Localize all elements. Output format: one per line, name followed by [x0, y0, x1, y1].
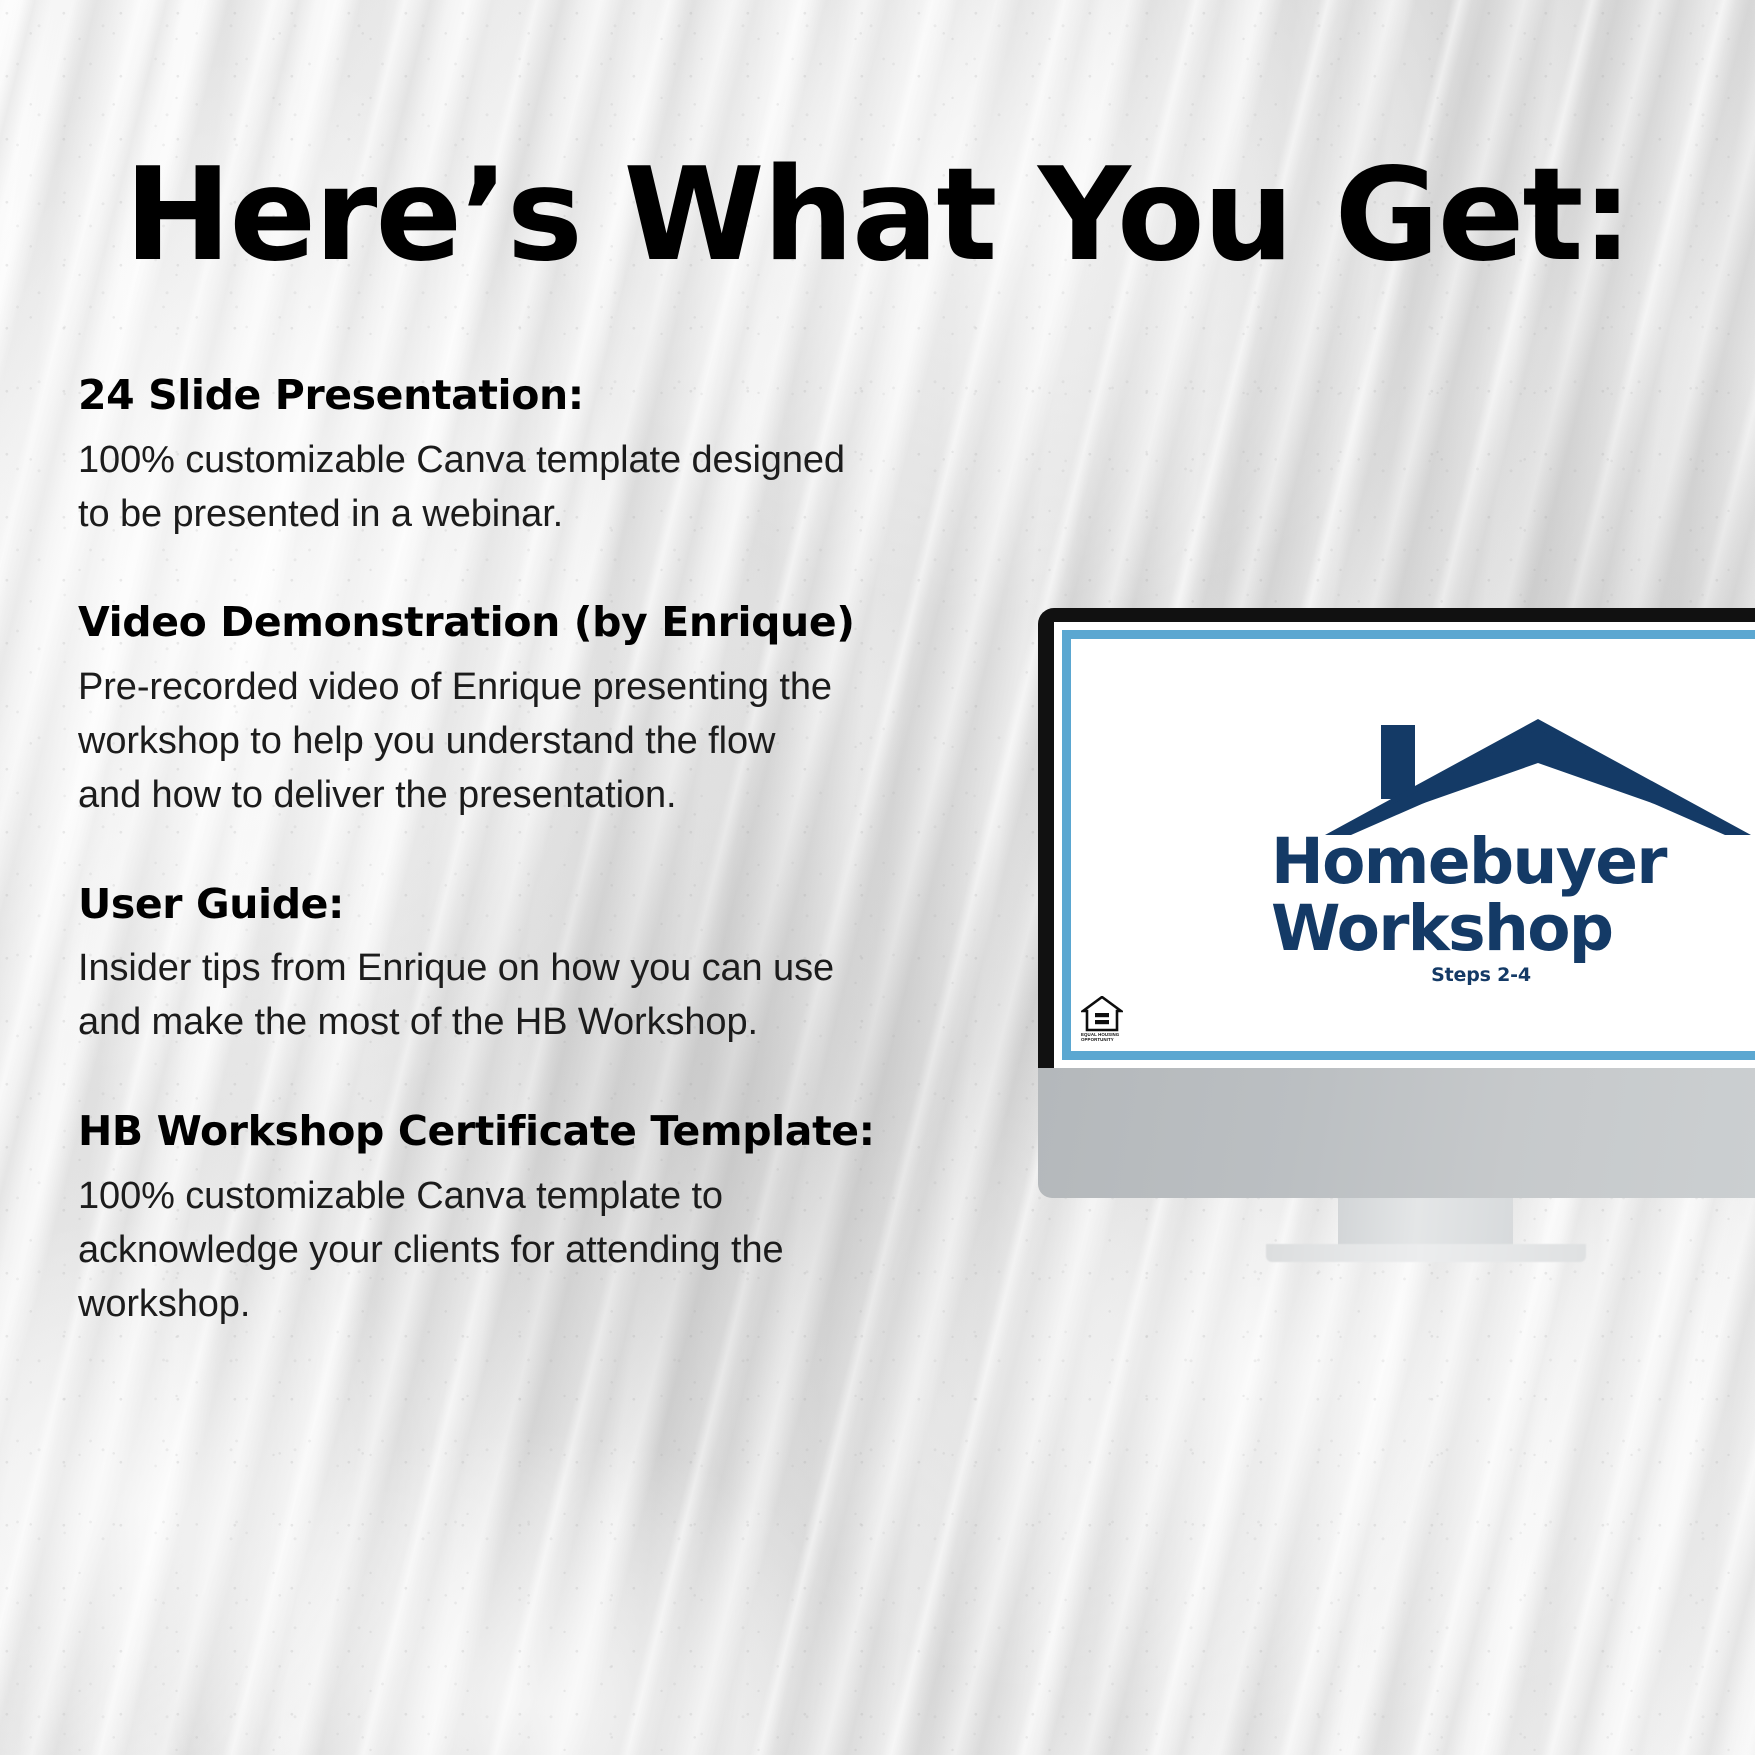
feature-title: HB Workshop Certificate Template:: [78, 1108, 1008, 1156]
feature-title: User Guide:: [78, 881, 1008, 929]
slide-brand-title: Homebuyer Workshop: [1271, 829, 1755, 963]
feature-body: 100% customizable Canva template to ackn…: [78, 1170, 1008, 1332]
poster-canvas: Here’s What You Get: 24 Slide Presentati…: [0, 0, 1755, 1755]
feature-item-slide-presentation: 24 Slide Presentation: 100% customizable…: [78, 372, 1008, 541]
equal-housing-opportunity-label: EQUAL HOUSING OPPORTUNITY: [1081, 1033, 1123, 1043]
feature-item-certificate-template: HB Workshop Certificate Template: 100% c…: [78, 1108, 1008, 1331]
equal-housing-opportunity-icon: EQUAL HOUSING OPPORTUNITY: [1081, 996, 1123, 1043]
slide-content: Homebuyer Workshop Steps 2-4 EQUAL HOUSI…: [1071, 639, 1755, 1051]
monitor-screen: Homebuyer Workshop Steps 2-4 EQUAL HOUSI…: [1054, 622, 1755, 1068]
page-title: Here’s What You Get:: [0, 152, 1755, 280]
feature-body: Insider tips from Enrique on how you can…: [78, 942, 1008, 1050]
monitor-chin: [1038, 1068, 1755, 1198]
feature-list: 24 Slide Presentation: 100% customizable…: [78, 372, 1008, 1332]
house-roof-icon: [1323, 717, 1753, 837]
feature-body: Pre-recorded video of Enrique presenting…: [78, 661, 1008, 823]
feature-title: 24 Slide Presentation:: [78, 372, 1008, 420]
monitor-stand-foot: [1266, 1244, 1586, 1262]
monitor-stand-neck: [1338, 1198, 1513, 1250]
feature-item-user-guide: User Guide: Insider tips from Enrique on…: [78, 881, 1008, 1050]
feature-body: 100% customizable Canva template designe…: [78, 434, 1008, 542]
feature-item-video-demonstration: Video Demonstration (by Enrique) Pre-rec…: [78, 599, 1008, 822]
slide-subtitle: Steps 2-4: [1271, 964, 1691, 986]
feature-title: Video Demonstration (by Enrique): [78, 599, 1008, 647]
monitor-bezel: Homebuyer Workshop Steps 2-4 EQUAL HOUSI…: [1038, 608, 1755, 1068]
monitor-mockup: Homebuyer Workshop Steps 2-4 EQUAL HOUSI…: [1038, 608, 1755, 1248]
